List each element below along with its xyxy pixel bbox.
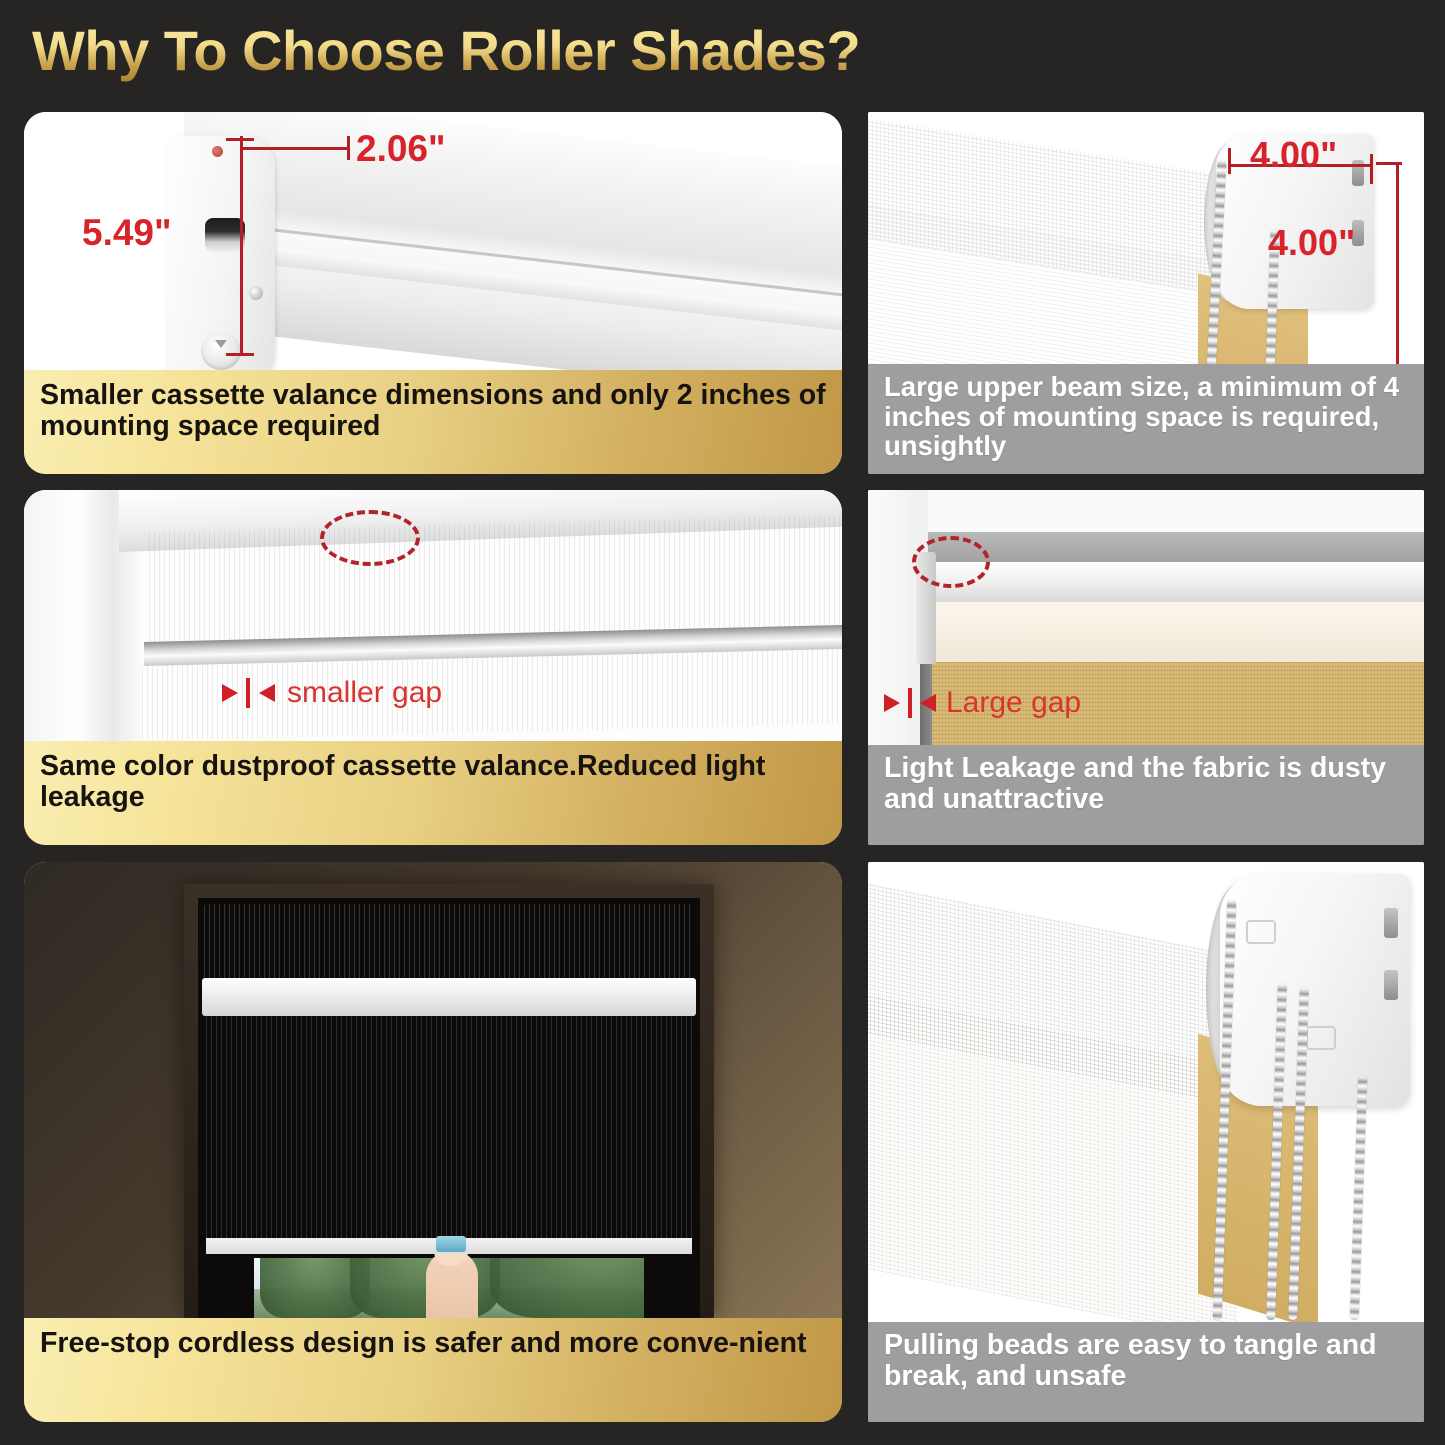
large-gap-label: Large gap — [946, 686, 1081, 720]
window-frame — [184, 884, 714, 1318]
smaller-gap-label: smaller gap — [287, 676, 442, 710]
width-dimension-line — [240, 147, 350, 150]
highlight-ellipse-icon — [912, 536, 990, 588]
bead-chain-4 — [1350, 1076, 1368, 1320]
bracket-emblem-bottom-icon — [1306, 1026, 1336, 1050]
gap-arrow-left-icon — [259, 684, 275, 702]
bead-chain-roller-image — [868, 862, 1424, 1322]
roller-large-gap-image: Large gap — [868, 490, 1424, 747]
height-dimension-tick-bottom — [226, 353, 254, 356]
bracket-notch-bottom — [1384, 970, 1398, 1000]
headrail-lip — [202, 978, 696, 1016]
beam-width-tick-left — [1228, 148, 1231, 174]
cassette-small-gap-image: smaller gap — [24, 490, 842, 741]
endcap-knob — [201, 332, 241, 370]
panel-smaller-cassette-valance: 5.49" 2.06" Smaller cassette valance dim… — [24, 112, 842, 474]
cassette-valance-dimensions-image: 5.49" 2.06" — [24, 112, 842, 370]
gap-arrow-left-icon — [920, 694, 936, 712]
panel-large-upper-beam: 4.00" 4.00" Large upper beam size, a min… — [868, 112, 1424, 474]
comparison-grid: 5.49" 2.06" Smaller cassette valance dim… — [0, 0, 1445, 1445]
highlight-ellipse-icon — [320, 510, 420, 566]
shade-fabric-face — [206, 1014, 692, 1252]
endcap-slot — [205, 218, 245, 252]
valance-endcap — [167, 136, 275, 370]
smaller-gap-annotation: smaller gap — [222, 676, 442, 710]
bracket-notch-top — [1384, 908, 1398, 938]
height-dimension-label: 5.49" — [82, 212, 172, 254]
panel-dustproof-cassette: smaller gap Same color dustproof cassett… — [24, 490, 842, 845]
roller-tube — [926, 562, 1424, 606]
tree-right — [490, 1258, 644, 1318]
width-dimension-label: 2.06" — [356, 128, 446, 170]
window-opening — [198, 898, 700, 1318]
gap-marker-line — [246, 678, 250, 708]
panel-6-caption: Pulling beads are easy to tangle and bre… — [868, 1322, 1424, 1422]
large-gap-annotation: Large gap — [884, 686, 1081, 720]
panel-4-caption: Light Leakage and the fabric is dusty an… — [868, 745, 1424, 845]
panel-1-caption: Smaller cassette valance dimensions and … — [24, 370, 842, 474]
panel-light-leakage: Large gap Light Leakage and the fabric i… — [868, 490, 1424, 845]
hand — [426, 1250, 478, 1318]
panel-5-caption: Free-stop cordless design is safer and m… — [24, 1318, 842, 1422]
panel-2-caption: Large upper beam size, a minimum of 4 in… — [868, 364, 1424, 474]
width-dimension-tick-left — [240, 136, 243, 160]
pull-handle — [436, 1236, 466, 1252]
beam-height-tick-top — [1376, 162, 1402, 165]
beam-width-tick-right — [1370, 154, 1373, 184]
cassette-headrail — [204, 904, 694, 982]
beam-height-label: 4.00" — [1268, 222, 1355, 264]
ceiling-surface — [868, 490, 1424, 538]
panel-pulling-beads: Pulling beads are easy to tangle and bre… — [868, 862, 1424, 1422]
gap-arrow-right-icon — [884, 694, 900, 712]
bracket-emblem-top-icon — [1246, 920, 1276, 944]
cordless-shade-window-image — [24, 862, 842, 1318]
cream-fabric-band — [928, 602, 1424, 664]
width-dimension-tick-right — [347, 136, 350, 160]
panel-3-caption: Same color dustproof cassette valance.Re… — [24, 741, 842, 845]
height-dimension-line — [240, 138, 243, 356]
endcap-screw — [249, 286, 263, 300]
mounting-pin — [212, 146, 223, 157]
gap-marker-line — [908, 688, 912, 718]
beam-height-dimension-line — [1396, 162, 1399, 374]
large-upper-beam-image: 4.00" 4.00" — [868, 112, 1424, 374]
mounting-bracket — [1220, 874, 1410, 1106]
valance-body — [184, 112, 842, 370]
panel-cordless-design: Free-stop cordless design is safer and m… — [24, 862, 842, 1422]
beam-width-label: 4.00" — [1250, 134, 1337, 176]
gap-arrow-right-icon — [222, 684, 238, 702]
